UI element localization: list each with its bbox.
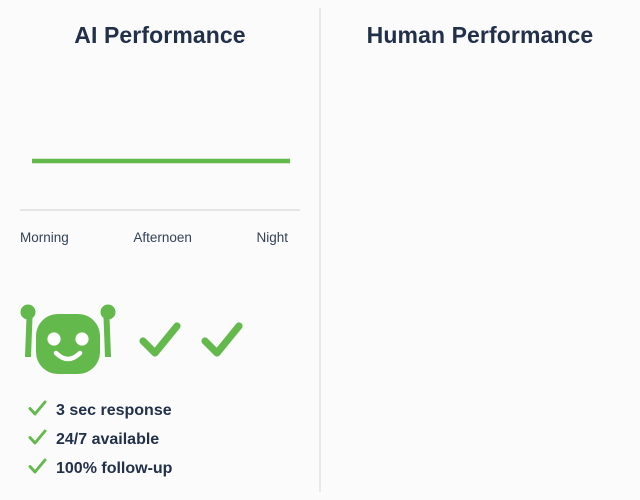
panel-human: Human Performance Morning Evening Night: [320, 0, 640, 500]
check-icon-large-2: [200, 319, 244, 366]
check-icon: [28, 399, 47, 422]
chart-ai-svg: [14, 75, 306, 220]
page-title-ai: AI Performance: [0, 22, 320, 49]
list-item-label: 100% follow-up: [56, 460, 172, 478]
list-item: 100% follow-up: [28, 454, 172, 483]
list-item-label: 3 sec response: [56, 402, 172, 420]
chart-ai-tick-labels: Morning Afternoen Night: [20, 230, 288, 245]
panel-ai: AI Performance Morning Afternoen Night: [0, 0, 320, 500]
tick-label-afternoon: Afternoen: [133, 230, 192, 245]
page-title-human: Human Performance: [320, 22, 640, 49]
chart-ai-performance: [14, 75, 306, 215]
list-item: 24/7 available: [28, 425, 172, 454]
check-icon: [28, 428, 47, 451]
infographic-root: AI Performance Morning Afternoen Night: [0, 0, 640, 500]
robot-face-icon: [16, 303, 120, 382]
ai-benefit-list: 3 sec response 24/7 available 100% follo…: [28, 396, 172, 483]
ai-icon-row: [16, 300, 244, 384]
check-icon: [28, 457, 47, 480]
check-icon-large-1: [138, 319, 182, 366]
tick-label-night: Night: [256, 230, 288, 245]
list-item-label: 24/7 available: [56, 431, 159, 449]
list-item: 3 sec response: [28, 396, 172, 425]
tick-label-morning: Morning: [20, 230, 69, 245]
